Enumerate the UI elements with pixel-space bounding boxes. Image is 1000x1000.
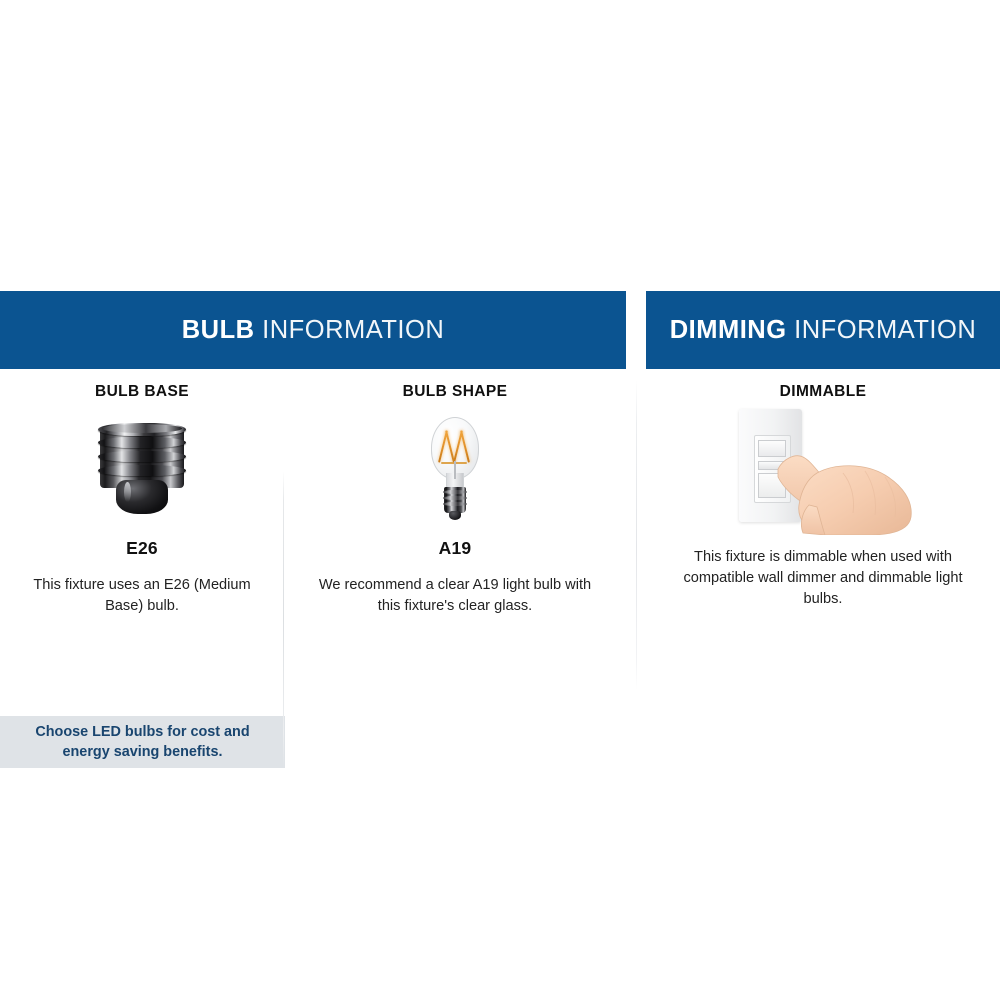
dimming-information-body: DIMMABLE xyxy=(646,369,1000,709)
bulb-shape-spec-label: A19 xyxy=(284,538,626,559)
panel-separator-line xyxy=(636,380,637,690)
dimmable-description: This fixture is dimmable when used with … xyxy=(672,547,974,610)
bulb-base-title: BULB BASE xyxy=(0,383,284,401)
base-top-rim xyxy=(102,424,182,433)
bulb-shape-description: We recommend a clear A19 light bulb with… xyxy=(312,575,598,617)
bulb-base-spec-label: E26 xyxy=(0,538,284,559)
dimming-information-header-text: DIMMING INFORMATION xyxy=(670,316,977,345)
bulb-shape-column: BULB SHAPE xyxy=(284,369,626,709)
bulb-base-thread xyxy=(443,502,467,506)
base-thread xyxy=(98,437,186,448)
bulb-base-tip xyxy=(449,511,461,520)
e26-bulb-base-icon xyxy=(94,424,190,519)
bulb-base-description: This fixture uses an E26 (Medium Base) b… xyxy=(27,575,257,617)
base-thread xyxy=(98,465,186,476)
pointing-hand-icon xyxy=(773,443,915,535)
dimmable-column: DIMMABLE xyxy=(646,369,1000,610)
bulb-stem xyxy=(454,461,456,479)
bulb-information-panel: BULB INFORMATION BULB BASE xyxy=(0,291,626,709)
led-savings-callout-text: Choose LED bulbs for cost and energy sav… xyxy=(18,722,268,763)
dimming-information-header: DIMMING INFORMATION xyxy=(646,291,1000,369)
base-tip-highlight xyxy=(124,482,131,502)
bulb-columns: BULB BASE E26 xyxy=(0,369,626,709)
infographic-canvas: BULB INFORMATION BULB BASE xyxy=(0,0,1000,1000)
dimming-information-header-bold: DIMMING xyxy=(670,316,787,344)
bulb-base-thread xyxy=(443,496,467,500)
bulb-shape-artwork xyxy=(284,411,626,531)
bulb-information-body: BULB BASE E26 xyxy=(0,369,626,709)
led-savings-callout: Choose LED bulbs for cost and energy sav… xyxy=(0,716,285,768)
bulb-base-column: BULB BASE E26 xyxy=(0,369,284,709)
wall-dimmer-switch-with-hand-icon xyxy=(723,407,923,535)
a19-light-bulb-icon xyxy=(427,417,483,525)
bulb-information-header-bold: BULB xyxy=(182,316,255,344)
bulb-shape-title: BULB SHAPE xyxy=(284,383,626,401)
bulb-base-thread xyxy=(443,490,467,494)
column-divider xyxy=(283,471,284,769)
dimming-information-panel: DIMMING INFORMATION DIMMABLE xyxy=(646,291,1000,709)
bulb-information-header-text: BULB INFORMATION xyxy=(182,316,445,345)
bulb-information-header-light-text: INFORMATION xyxy=(262,316,444,344)
base-thread xyxy=(98,451,186,462)
bulb-information-header: BULB INFORMATION xyxy=(0,291,626,369)
dimmable-artwork xyxy=(646,411,1000,531)
dimmable-title: DIMMABLE xyxy=(646,383,1000,401)
dimming-information-header-light-text: INFORMATION xyxy=(794,316,976,344)
bulb-base-artwork xyxy=(0,411,284,531)
